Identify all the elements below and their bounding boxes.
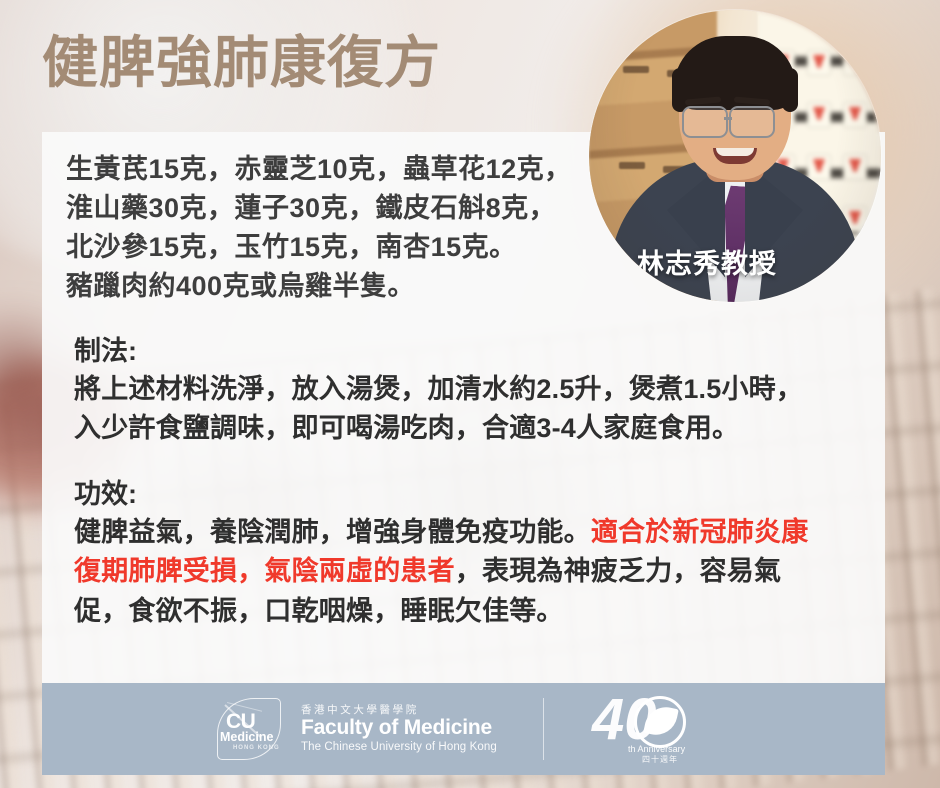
effect-block: 功效: 健脾益氣，養陰潤肺，增強身體免疫功能。適合於新冠肺炎康 復期肺脾受損，氣… <box>66 475 861 632</box>
method-block: 制法: 將上述材料洗淨，放入湯煲，加清水約2.5升，煲煮1.5小時， 入少許食鹽… <box>66 332 861 449</box>
effect-text-highlight: 復期肺脾受損，氣陰兩虛的患者 <box>74 556 455 586</box>
poster-root: 健脾強肺康復方 生黃芪15克，赤靈芝10克，蟲草花12克， 淮山藥30克，蓮子3… <box>0 0 940 788</box>
effect-line-2: 復期肺脾受損，氣陰兩虛的患者，表現為神疲乏力，容易氣 <box>66 552 861 591</box>
cu-logo-hongkong-text: HONG KONG <box>233 745 280 751</box>
effect-text-highlight: 適合於新冠肺炎康 <box>591 517 809 547</box>
faculty-wordmark: 香港中文大學醫學院 Faculty of Medicine The Chines… <box>301 704 497 755</box>
effect-line-1: 健脾益氣，養陰潤肺，增強身體免疫功能。適合於新冠肺炎康 <box>66 513 861 552</box>
cu-logo-text: CU <box>226 711 255 732</box>
university-name: The Chinese University of Hong Kong <box>301 741 497 755</box>
page-title: 健脾強肺康復方 <box>42 34 441 93</box>
effect-line-3: 促，食欲不振，口乾咽燥，睡眠欠佳等。 <box>66 592 861 631</box>
method-heading: 制法: <box>66 332 861 370</box>
anniversary-logo-icon: 40 th Anniversary 四十週年 <box>590 693 710 765</box>
footer-bar: CU Medicine HONG KONG 香港中文大學醫學院 Faculty … <box>42 683 885 775</box>
method-line: 將上述材料洗淨，放入湯煲，加清水約2.5升，煲煮1.5小時， <box>66 370 861 409</box>
anniversary-label-zh: 四十週年 <box>642 756 678 764</box>
portrait-name-label: 林志秀教授 <box>637 242 777 281</box>
method-line: 入少許食鹽調味，即可喝湯吃肉，合適3-4人家庭食用。 <box>66 409 861 448</box>
anniversary-label-en: th Anniversary <box>628 745 685 754</box>
faculty-english-name: Faculty of Medicine <box>301 716 497 741</box>
portrait-photo: 林志秀教授 <box>589 10 881 302</box>
effect-heading: 功效: <box>66 475 861 513</box>
footer-divider <box>543 698 544 760</box>
footer-logo-group: CU Medicine HONG KONG 香港中文大學醫學院 Faculty … <box>217 693 710 765</box>
cu-logo-medicine-text: Medicine <box>220 731 274 744</box>
cu-medicine-logo-icon: CU Medicine HONG KONG <box>217 698 281 760</box>
effect-text-normal: 健脾益氣，養陰潤肺，增強身體免疫功能。 <box>74 517 591 547</box>
faculty-chinese-name: 香港中文大學醫學院 <box>301 704 497 716</box>
effect-text-normal: ，表現為神疲乏力，容易氣 <box>455 556 781 586</box>
